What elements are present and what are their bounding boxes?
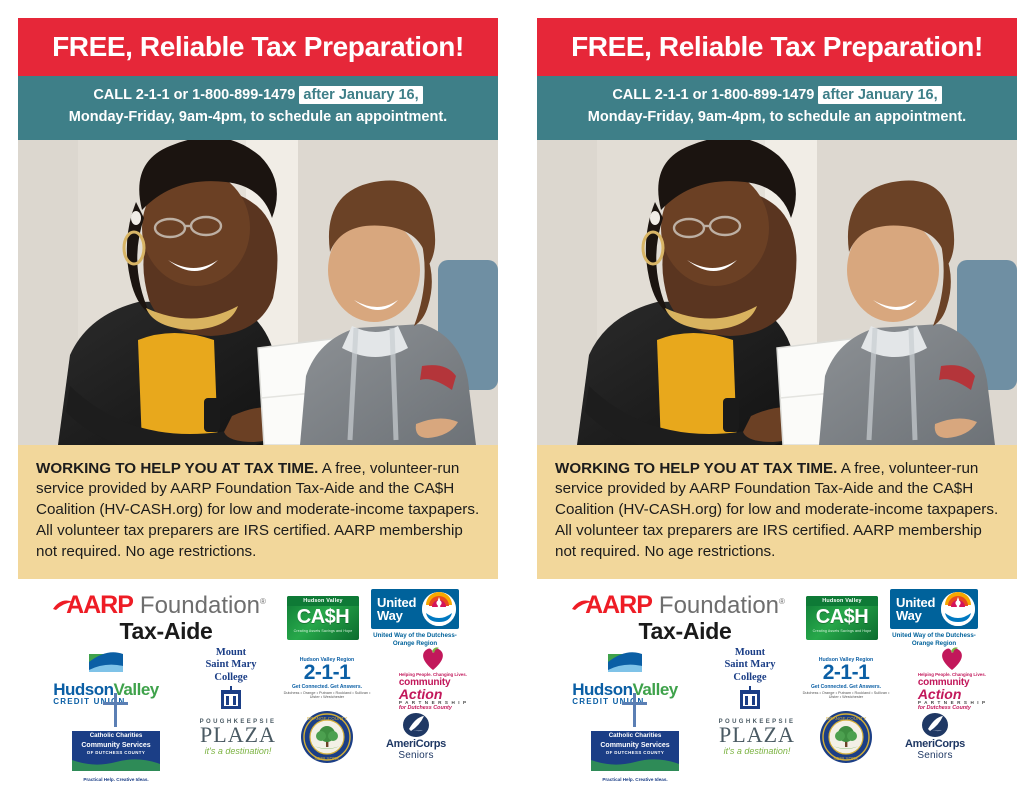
cc-line-2: Community Services xyxy=(591,741,679,750)
msm-line-3: College xyxy=(724,672,775,684)
two11-counties-text: Dutchess • Orange • Putnam • Rockland • … xyxy=(800,691,892,699)
call-line-1-text: CALL 2-1-1 or 1-800-899-1479 xyxy=(93,87,295,103)
cc-wave-icon xyxy=(591,757,679,771)
cap-county-text: for Dutchess County xyxy=(918,706,986,712)
cap-county-text: for Dutchess County xyxy=(399,706,467,712)
aarp-word-text: AARP xyxy=(585,591,652,619)
cap-action-text: Action xyxy=(399,688,467,701)
plaza-tagline: it's a destination! xyxy=(205,746,272,756)
cash-region-label: Hudson Valley xyxy=(806,596,878,606)
sponsor-row-3: Catholic Charities Community Services OF… xyxy=(28,707,488,767)
sponsor-row-1: AARP Foundation® Tax-Aide Hudson Valley … xyxy=(28,587,488,649)
cash-wordmark: CA$H xyxy=(297,607,349,627)
call-date-highlight: after January 16, xyxy=(818,86,941,104)
logo-aarp-foundation-tax-aide: AARP Foundation® Tax-Aide xyxy=(52,593,280,643)
united-way-line-1: United xyxy=(377,596,422,609)
call-to-action-bar: CALL 2-1-1 or 1-800-899-1479 after Janua… xyxy=(18,76,498,140)
cc-line-4: Practical Help. Creative Ideas. xyxy=(591,777,679,782)
call-date-highlight: after January 16, xyxy=(299,86,422,104)
americorps-icon xyxy=(403,713,429,737)
logo-united-way: United Way xyxy=(366,589,464,648)
cash-tagline: Creating Assets Savings and Hope xyxy=(294,629,353,633)
cc-line-1: Catholic Charities xyxy=(72,731,160,741)
plaza-line-2: PLAZA xyxy=(719,725,795,745)
catholic-charities-cross-icon xyxy=(620,693,650,727)
logo-hudson-valley-cash: Hudson Valley CA$H Creating Assets Savin… xyxy=(286,596,360,640)
orange-county-seal-icon: ORANGE COUNTY NEW YORK xyxy=(300,710,354,764)
americorps-line-1: AmeriCorps xyxy=(905,738,965,750)
msm-line-1: Mount xyxy=(724,647,775,659)
aarp-swoosh-icon xyxy=(53,600,73,611)
two11-number-text: 2-1-1 xyxy=(823,663,870,683)
logo-mount-saint-mary-college: Mount Saint Mary College xyxy=(189,647,273,710)
logo-united-way: United Way xyxy=(885,589,983,648)
call-line-1-text: CALL 2-1-1 or 1-800-899-1479 xyxy=(612,87,814,103)
flyer-headline: FREE, Reliable Tax Preparation! xyxy=(18,18,498,76)
flyer-body-lead: WORKING TO HELP YOU AT TAX TIME. xyxy=(555,460,837,477)
logo-mount-saint-mary-college: Mount Saint Mary College xyxy=(708,647,792,710)
two11-tagline: Get Connected. Get Answers. xyxy=(811,684,881,690)
two11-counties-text: Dutchess • Orange • Putnam • Rockland • … xyxy=(281,691,373,699)
cc-wave-icon xyxy=(72,757,160,771)
seal-bottom-text: NEW YORK xyxy=(315,756,341,761)
catholic-charities-cross-icon xyxy=(101,693,131,727)
msm-line-2: Saint Mary xyxy=(205,659,256,671)
plaza-tagline: it's a destination! xyxy=(724,746,791,756)
two11-number-text: 2-1-1 xyxy=(304,663,351,683)
msm-line-2: Saint Mary xyxy=(724,659,775,671)
united-way-wordmark: United Way xyxy=(371,596,422,623)
cc-line-3: OF DUTCHESS COUNTY xyxy=(591,750,679,757)
flyer-sheet: FREE, Reliable Tax Preparation! CALL 2-1… xyxy=(0,0,1035,801)
logo-211-hudson-valley: Hudson Valley Region 2-1-1 Get Connected… xyxy=(800,657,892,699)
community-action-heart-icon xyxy=(939,645,965,671)
logo-catholic-charities: Catholic Charities Community Services OF… xyxy=(52,693,180,782)
cash-region-label: Hudson Valley xyxy=(287,596,359,606)
flyer-panel-left: FREE, Reliable Tax Preparation! CALL 2-1… xyxy=(18,18,498,783)
aarp-registered-mark: ® xyxy=(779,597,785,606)
united-way-wordmark: United Way xyxy=(890,596,941,623)
call-line-2-text: Monday-Friday, 9am-4pm, to schedule an a… xyxy=(588,109,966,125)
united-way-line-2: Way xyxy=(896,609,941,622)
seal-bottom-text: NEW YORK xyxy=(834,756,860,761)
msm-line-1: Mount xyxy=(205,647,256,659)
flyer-body-text: WORKING TO HELP YOU AT TAX TIME. A free,… xyxy=(18,445,498,580)
msm-crest-icon xyxy=(739,686,761,710)
flyer-headline: FREE, Reliable Tax Preparation! xyxy=(537,18,1017,76)
logo-aarp-foundation-tax-aide: AARP Foundation® Tax-Aide xyxy=(571,593,799,643)
logo-catholic-charities: Catholic Charities Community Services OF… xyxy=(571,693,699,782)
seal-top-text: ORANGE COUNTY xyxy=(826,716,867,721)
americorps-line-2: Seniors xyxy=(917,750,952,761)
logo-poughkeepsie-plaza: POUGHKEEPSIE PLAZA it's a destination! xyxy=(709,719,805,756)
americorps-icon xyxy=(922,713,948,737)
americorps-line-1: AmeriCorps xyxy=(386,738,446,750)
photo-illustration xyxy=(537,140,1017,445)
aarp-swoosh-icon xyxy=(572,600,592,611)
cc-line-4: Practical Help. Creative Ideas. xyxy=(72,777,160,782)
cash-wordmark: CA$H xyxy=(816,607,868,627)
msm-line-3: College xyxy=(205,672,256,684)
aarp-tax-aide-text: Tax-Aide xyxy=(638,620,731,643)
aarp-tax-aide-text: Tax-Aide xyxy=(119,620,212,643)
sponsor-row-1: AARP Foundation® Tax-Aide Hudson Valley … xyxy=(547,587,1007,649)
photo-tax-volunteer-and-client xyxy=(537,140,1017,445)
community-action-heart-icon xyxy=(420,645,446,671)
americorps-line-2: Seniors xyxy=(398,750,433,761)
hvcu-landscape-icon xyxy=(608,651,642,675)
msm-crest-icon xyxy=(220,686,242,710)
sponsor-logos: AARP Foundation® Tax-Aide Hudson Valley … xyxy=(18,579,498,783)
flyer-body-text: WORKING TO HELP YOU AT TAX TIME. A free,… xyxy=(537,445,1017,580)
cap-action-text: Action xyxy=(918,688,986,701)
aarp-wordmark: AARP xyxy=(585,593,652,618)
sponsor-row-3: Catholic Charities Community Services OF… xyxy=(547,707,1007,767)
cc-line-1: Catholic Charities xyxy=(591,731,679,741)
united-way-hand-rainbow-icon xyxy=(422,592,456,626)
seal-top-text: ORANGE COUNTY xyxy=(307,716,348,721)
united-way-line-1: United xyxy=(896,596,941,609)
aarp-foundation-text: Foundation® xyxy=(659,594,785,618)
sponsor-logos: AARP Foundation® Tax-Aide Hudson Valley … xyxy=(537,579,1017,783)
aarp-word-text: AARP xyxy=(66,591,133,619)
logo-community-action-partnership: Helping People. Changing Lives. communit… xyxy=(381,645,485,712)
call-to-action-bar: CALL 2-1-1 or 1-800-899-1479 after Janua… xyxy=(537,76,1017,140)
cc-line-2: Community Services xyxy=(72,741,160,750)
united-way-line-2: Way xyxy=(377,609,422,622)
logo-poughkeepsie-plaza: POUGHKEEPSIE PLAZA it's a destination! xyxy=(190,719,286,756)
logo-orange-county-seal: ORANGE COUNTY NEW YORK xyxy=(815,710,877,764)
logo-americorps-seniors: AmeriCorps Seniors xyxy=(368,713,464,761)
two11-tagline: Get Connected. Get Answers. xyxy=(292,684,362,690)
flyer-body-lead: WORKING TO HELP YOU AT TAX TIME. xyxy=(36,460,318,477)
logo-community-action-partnership: Helping People. Changing Lives. communit… xyxy=(900,645,1004,712)
aarp-registered-mark: ® xyxy=(260,597,266,606)
photo-tax-volunteer-and-client xyxy=(18,140,498,445)
plaza-line-2: PLAZA xyxy=(200,725,276,745)
logo-211-hudson-valley: Hudson Valley Region 2-1-1 Get Connected… xyxy=(281,657,373,699)
aarp-foundation-text: Foundation® xyxy=(140,594,266,618)
flyer-panel-right: FREE, Reliable Tax Preparation! CALL 2-1… xyxy=(537,18,1017,783)
hvcu-landscape-icon xyxy=(89,651,123,675)
cc-line-3: OF DUTCHESS COUNTY xyxy=(72,750,160,757)
logo-americorps-seniors: AmeriCorps Seniors xyxy=(887,713,983,761)
logo-orange-county-seal: ORANGE COUNTY NEW YORK xyxy=(296,710,358,764)
call-line-2-text: Monday-Friday, 9am-4pm, to schedule an a… xyxy=(69,109,447,125)
logo-hudson-valley-cash: Hudson Valley CA$H Creating Assets Savin… xyxy=(805,596,879,640)
aarp-wordmark: AARP xyxy=(66,593,133,618)
photo-illustration xyxy=(18,140,498,445)
united-way-hand-rainbow-icon xyxy=(941,592,975,626)
cash-tagline: Creating Assets Savings and Hope xyxy=(813,629,872,633)
orange-county-seal-icon: ORANGE COUNTY NEW YORK xyxy=(819,710,873,764)
